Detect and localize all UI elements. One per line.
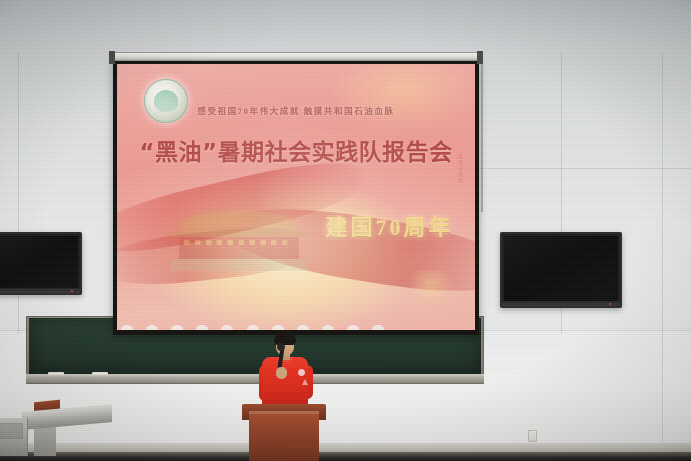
- monitor-power-led: [71, 290, 73, 292]
- slide-subtitle: 感受祖国70年伟大成就 触摸共和国石油血脉: [117, 105, 475, 117]
- wall-seam-horizontal: [480, 168, 691, 169]
- presenter-hair: [274, 331, 296, 345]
- slide-seal-label: 校团委: [410, 270, 452, 306]
- microphone-head-icon: [277, 343, 285, 351]
- presenter-hand: [276, 367, 287, 379]
- podium-body: [249, 411, 319, 461]
- left-wall-monitor[interactable]: [0, 232, 82, 295]
- slide-corner-note: 实践出真知: [457, 154, 464, 184]
- projected-slide: 感受祖国70年伟大成就 触摸共和国石油血脉 “黑油”暑期社会实践队报告会 建国7…: [117, 64, 475, 330]
- teacher-console-desk: [0, 404, 116, 454]
- chalk-piece: [92, 372, 108, 375]
- projector-screen-roller-housing: [110, 52, 482, 61]
- right-wall-monitor[interactable]: [500, 232, 622, 308]
- podium-edge-highlight: [249, 411, 319, 414]
- wooden-podium: [242, 404, 326, 461]
- screen-bracket-left: [109, 51, 115, 64]
- presenter-logo-badge: [298, 369, 305, 376]
- ceiling: [0, 0, 691, 58]
- desk-leg: [34, 424, 56, 456]
- monitor-bezel: [502, 301, 620, 306]
- wall-power-outlet[interactable]: [528, 430, 537, 442]
- projector-cable: [481, 62, 483, 212]
- desk-control-panel[interactable]: [0, 423, 23, 439]
- monitor-bezel: [0, 288, 80, 293]
- wall-seam-far-right: [662, 52, 663, 452]
- team-group-photo: [124, 242, 403, 327]
- slide-gold-slogan: 建国70周年: [326, 210, 454, 242]
- lecture-hall-photo: 感受祖国70年伟大成就 触摸共和国石油血脉 “黑油”暑期社会实践队报告会 建国7…: [0, 0, 691, 461]
- slide-seal-emblem: 校团委: [410, 270, 452, 306]
- monitor-power-led: [609, 303, 611, 305]
- chalk-piece: [48, 372, 64, 375]
- slide-title: “黑油”暑期社会实践队报告会: [117, 133, 475, 167]
- screen-bracket-right: [477, 51, 483, 64]
- monitor-screen: [0, 236, 78, 291]
- monitor-screen: [504, 236, 618, 304]
- projection-screen: 感受祖国70年伟大成就 触摸共和国石油血脉 “黑油”暑期社会实践队报告会 建国7…: [113, 60, 479, 335]
- presenter: [252, 331, 318, 411]
